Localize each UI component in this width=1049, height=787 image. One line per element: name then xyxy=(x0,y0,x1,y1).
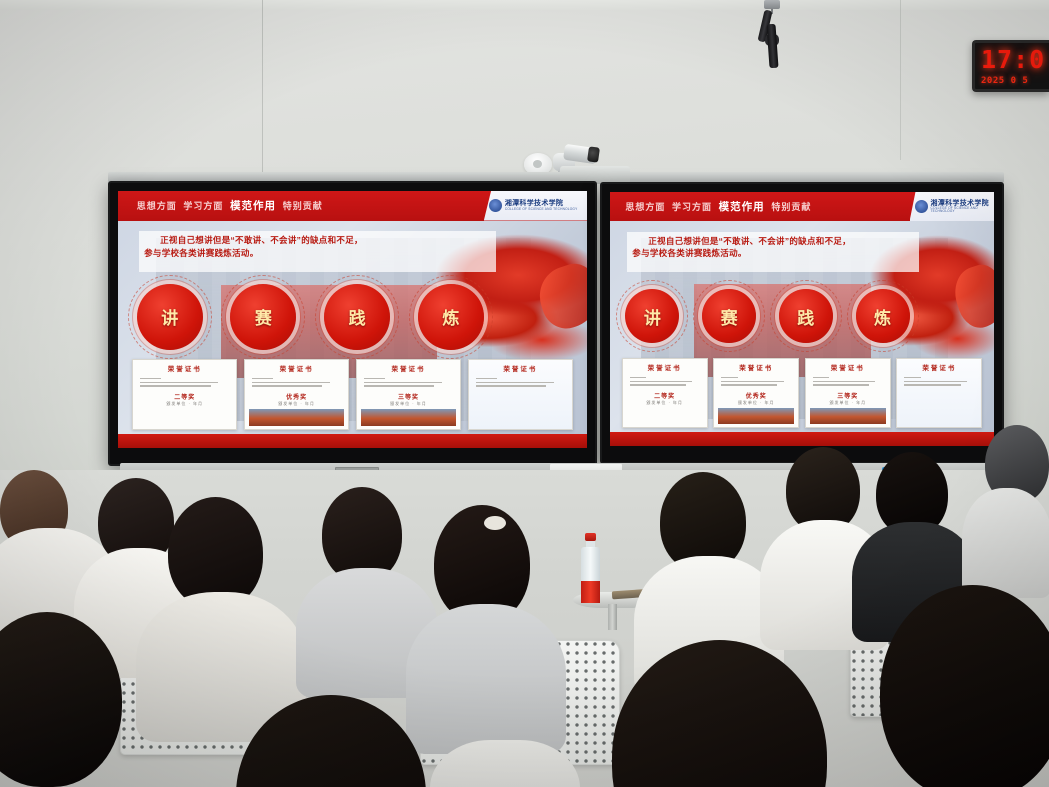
slide-nav-item-1: 学习方面 xyxy=(183,199,223,212)
certificate-footer xyxy=(901,408,977,424)
certificate-title: 荣誉证书 xyxy=(473,363,568,373)
red-ribbon-fold xyxy=(532,258,587,335)
wall-seam xyxy=(262,0,263,180)
certificate-footer xyxy=(718,408,794,424)
slide-nav: 思想方面 学习方面 模范作用 特别贡献 xyxy=(137,191,303,221)
certificate-footer xyxy=(249,409,344,425)
left-display-panel: 思想方面 学习方面 模范作用 特别贡献 湘潭科学技术学院 COLLEGE OF … xyxy=(118,191,587,448)
slide-institution-logo: 湘潭科学技术学院 COLLEGE OF SCIENCE AND TECHNOLO… xyxy=(910,192,994,221)
keyword-circle-1: 赛 xyxy=(230,284,296,350)
certificate-award: 优秀奖 xyxy=(718,391,794,400)
slide-nav-item-0: 思想方面 xyxy=(137,199,177,212)
certificate-body-lines xyxy=(137,375,232,392)
certificate-footer xyxy=(361,409,456,425)
slide-text-line-2: 参与学校各类讲赛践炼活动。 xyxy=(632,247,914,259)
slide-text-line-1: 正视自己想讲但是“不敢讲、不会讲”的缺点和不足， xyxy=(632,235,914,247)
slide-keyword-circles: 讲 赛 践 炼 xyxy=(625,284,909,347)
hair-accessory xyxy=(484,516,506,530)
certificate-item: 荣誉证书 xyxy=(896,358,982,428)
keyword-circle-2: 践 xyxy=(324,284,390,350)
keyword-circle-0: 讲 xyxy=(625,289,679,343)
slide-footer-band xyxy=(118,434,587,448)
slide-content: 正视自己想讲但是“不敢讲、不会讲”的缺点和不足， 参与学校各类讲赛践炼活动。 讲… xyxy=(118,221,587,434)
institution-name-en: COLLEGE OF SCIENCE AND TECHNOLOGY xyxy=(931,207,994,214)
certificate-item: 荣誉证书 优秀奖 颁发单位 · 年月 xyxy=(244,359,349,429)
slide-text-box: 正视自己想讲但是“不敢讲、不会讲”的缺点和不足， 参与学校各类讲赛践炼活动。 xyxy=(139,231,495,272)
right-display-panel: 思想方面 学习方面 模范作用 特别贡献 湘潭科学技术学院 COLLEGE OF … xyxy=(610,192,994,446)
slide-nav: 思想方面 学习方面 模范作用 特别贡献 xyxy=(625,192,791,221)
certificate-body-lines xyxy=(810,374,886,391)
certificate-item: 荣誉证书 优秀奖 颁发单位 · 年月 xyxy=(713,358,799,428)
certificate-award: 二等奖 xyxy=(627,391,703,400)
certificate-footer xyxy=(137,409,232,425)
institution-name-en: COLLEGE OF SCIENCE AND TECHNOLOGY xyxy=(505,208,578,211)
institution-emblem-icon xyxy=(915,200,928,213)
certificate-item: 荣誉证书 三等奖 颁发单位 · 年月 xyxy=(356,359,461,429)
slide-header-band: 思想方面 学习方面 模范作用 特别贡献 湘潭科学技术学院 COLLEGE OF … xyxy=(610,192,994,221)
water-bottle xyxy=(581,533,600,595)
certificate-body-lines xyxy=(627,374,703,391)
clock-date: 2025 0 5 xyxy=(981,76,1049,86)
bottle-body xyxy=(581,547,600,595)
certificate-row: 荣誉证书 二等奖 颁发单位 · 年月 荣誉证书 优秀奖 颁发单位 · 年月 xyxy=(132,359,573,429)
right-display[interactable]: 思想方面 学习方面 模范作用 特别贡献 湘潭科学技术学院 COLLEGE OF … xyxy=(600,182,1004,464)
slide-footer-band xyxy=(610,432,994,446)
side-table-leg xyxy=(608,604,617,630)
certificate-body-lines xyxy=(249,375,344,392)
slide-institution-logo: 湘潭科学技术学院 COLLEGE OF SCIENCE AND TECHNOLO… xyxy=(484,191,587,221)
microphone-lower-body xyxy=(766,24,778,69)
slide-nav-item-1: 学习方面 xyxy=(672,200,712,213)
slide-left: 思想方面 学习方面 模范作用 特别贡献 湘潭科学技术学院 COLLEGE OF … xyxy=(118,191,587,448)
ceiling-edge xyxy=(0,0,1049,10)
left-display[interactable]: 思想方面 学习方面 模范作用 特别贡献 湘潭科学技术学院 COLLEGE OF … xyxy=(108,181,597,466)
slide-text-line-1: 正视自己想讲但是“不敢讲、不会讲”的缺点和不足， xyxy=(144,234,490,246)
clock-time: 17:0 xyxy=(981,47,1049,72)
institution-name-block: 湘潭科学技术学院 COLLEGE OF SCIENCE AND TECHNOLO… xyxy=(931,200,994,214)
certificate-signature: 颁发单位 · 年月 xyxy=(137,401,232,407)
certificate-row: 荣誉证书 二等奖 颁发单位 · 年月 荣誉证书 优秀奖 颁发单位 · 年月 xyxy=(622,358,983,428)
slide-keyword-circles: 讲 赛 践 炼 xyxy=(137,285,484,349)
slide-nav-item-3: 特别贡献 xyxy=(283,199,323,212)
certificate-title: 荣誉证书 xyxy=(137,363,232,373)
slide-text-line-2: 参与学校各类讲赛践炼活动。 xyxy=(144,247,490,259)
certificate-footer xyxy=(627,408,703,424)
certificate-title: 荣誉证书 xyxy=(810,362,886,372)
certificate-body-lines xyxy=(361,375,456,392)
slide-nav-item-0: 思想方面 xyxy=(625,200,665,213)
hanging-microphone-icon xyxy=(752,0,790,68)
certificate-item: 荣誉证书 三等奖 颁发单位 · 年月 xyxy=(805,358,891,428)
red-ribbon-fold xyxy=(947,260,994,333)
lecture-hall-scene: 17:0 2025 0 5 思想方面 学习方面 模范作用 xyxy=(0,0,1049,787)
certificate-body-lines xyxy=(901,374,977,406)
certificate-signature: 颁发单位 · 年月 xyxy=(810,400,886,406)
certificate-signature: 颁发单位 · 年月 xyxy=(718,400,794,406)
keyword-circle-3: 炼 xyxy=(418,284,484,350)
slide-nav-item-2: 模范作用 xyxy=(719,199,765,214)
certificate-body-lines xyxy=(718,374,794,391)
certificate-footer xyxy=(810,408,886,424)
certificate-item: 荣誉证书 xyxy=(468,359,573,429)
keyword-circle-1: 赛 xyxy=(702,289,756,343)
certificate-item: 荣誉证书 二等奖 颁发单位 · 年月 xyxy=(622,358,708,428)
keyword-circle-2: 践 xyxy=(779,289,833,343)
slide-text-box: 正视自己想讲但是“不敢讲、不会讲”的缺点和不足， 参与学校各类讲赛践炼活动。 xyxy=(627,232,919,272)
slide-nav-item-3: 特别贡献 xyxy=(771,200,811,213)
slide-nav-item-2: 模范作用 xyxy=(230,198,276,213)
camera-lens xyxy=(587,146,600,162)
certificate-title: 荣誉证书 xyxy=(249,363,344,373)
certificate-signature: 颁发单位 · 年月 xyxy=(361,401,456,407)
keyword-circle-0: 讲 xyxy=(137,284,203,350)
certificate-body-lines xyxy=(473,375,568,407)
certificate-signature: 颁发单位 · 年月 xyxy=(249,401,344,407)
certificate-title: 荣誉证书 xyxy=(718,362,794,372)
wall-seam-secondary xyxy=(900,0,901,160)
keyword-circle-3: 炼 xyxy=(856,289,910,343)
certificate-title: 荣誉证书 xyxy=(361,363,456,373)
certificate-footer xyxy=(473,409,568,425)
slide-content: 正视自己想讲但是“不敢讲、不会讲”的缺点和不足， 参与学校各类讲赛践炼活动。 讲… xyxy=(610,221,994,432)
certificate-title: 荣誉证书 xyxy=(901,362,977,372)
bottle-label xyxy=(581,581,600,603)
certificate-item: 荣誉证书 二等奖 颁发单位 · 年月 xyxy=(132,359,237,429)
institution-emblem-icon xyxy=(489,199,502,212)
certificate-title: 荣誉证书 xyxy=(627,362,703,372)
certificate-signature: 颁发单位 · 年月 xyxy=(627,400,703,406)
institution-name-block: 湘潭科学技术学院 COLLEGE OF SCIENCE AND TECHNOLO… xyxy=(505,200,578,211)
digital-wall-clock: 17:0 2025 0 5 xyxy=(972,40,1049,92)
certificate-award: 三等奖 xyxy=(810,391,886,400)
slide-right: 思想方面 学习方面 模范作用 特别贡献 湘潭科学技术学院 COLLEGE OF … xyxy=(610,192,994,446)
microphone-clip xyxy=(764,0,780,9)
bottle-cap xyxy=(585,533,596,541)
slide-header-band: 思想方面 学习方面 模范作用 特别贡献 湘潭科学技术学院 COLLEGE OF … xyxy=(118,191,587,221)
